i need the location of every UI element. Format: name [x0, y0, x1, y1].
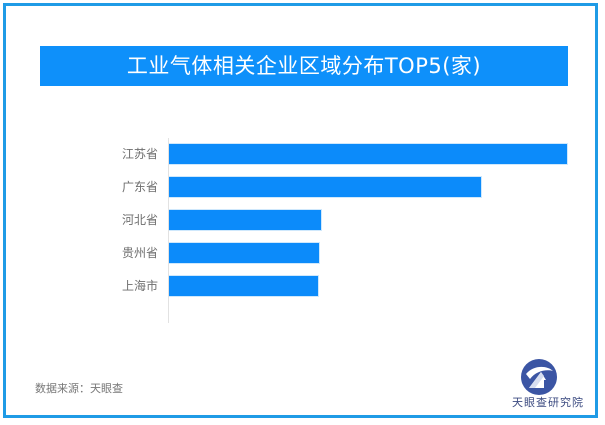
chart-title-banner: 工业气体相关企业区域分布TOP5(家) [40, 46, 568, 86]
bar-track-0 [169, 143, 568, 165]
category-label-2: 河北省 [40, 209, 158, 231]
bar-track-2 [169, 209, 568, 231]
bar-track-4 [169, 275, 568, 297]
chart-row: 江苏省 [40, 143, 568, 165]
bar-1[interactable] [169, 176, 482, 198]
brand-logo-label: 天眼查研究院 [503, 394, 593, 410]
chart-row: 贵州省 [40, 242, 568, 264]
bar-chart-plot-area: 江苏省 广东省 河北省 贵州省 上海市 [40, 134, 568, 326]
category-label-1: 广东省 [40, 176, 158, 198]
bar-0[interactable] [169, 143, 568, 165]
bar-track-3 [169, 242, 568, 264]
tianyancha-logo-icon [520, 358, 558, 396]
brand-logo: 天眼查研究院 [503, 358, 593, 408]
page-title: 工业气体相关企业区域分布TOP5(家) [127, 56, 481, 77]
bar-3[interactable] [169, 242, 320, 264]
bar-4[interactable] [169, 275, 319, 297]
chart-card: 工业气体相关企业区域分布TOP5(家) 江苏省 广东省 河北省 贵州省 [3, 3, 598, 418]
bar-track-1 [169, 176, 568, 198]
chart-row: 上海市 [40, 275, 568, 297]
chart-row: 河北省 [40, 209, 568, 231]
chart-row: 广东省 [40, 176, 568, 198]
category-label-3: 贵州省 [40, 242, 158, 264]
category-label-0: 江苏省 [40, 143, 158, 165]
bar-2[interactable] [169, 209, 322, 231]
data-source-label: 数据来源：天眼查 [35, 380, 123, 396]
category-label-4: 上海市 [40, 275, 158, 297]
